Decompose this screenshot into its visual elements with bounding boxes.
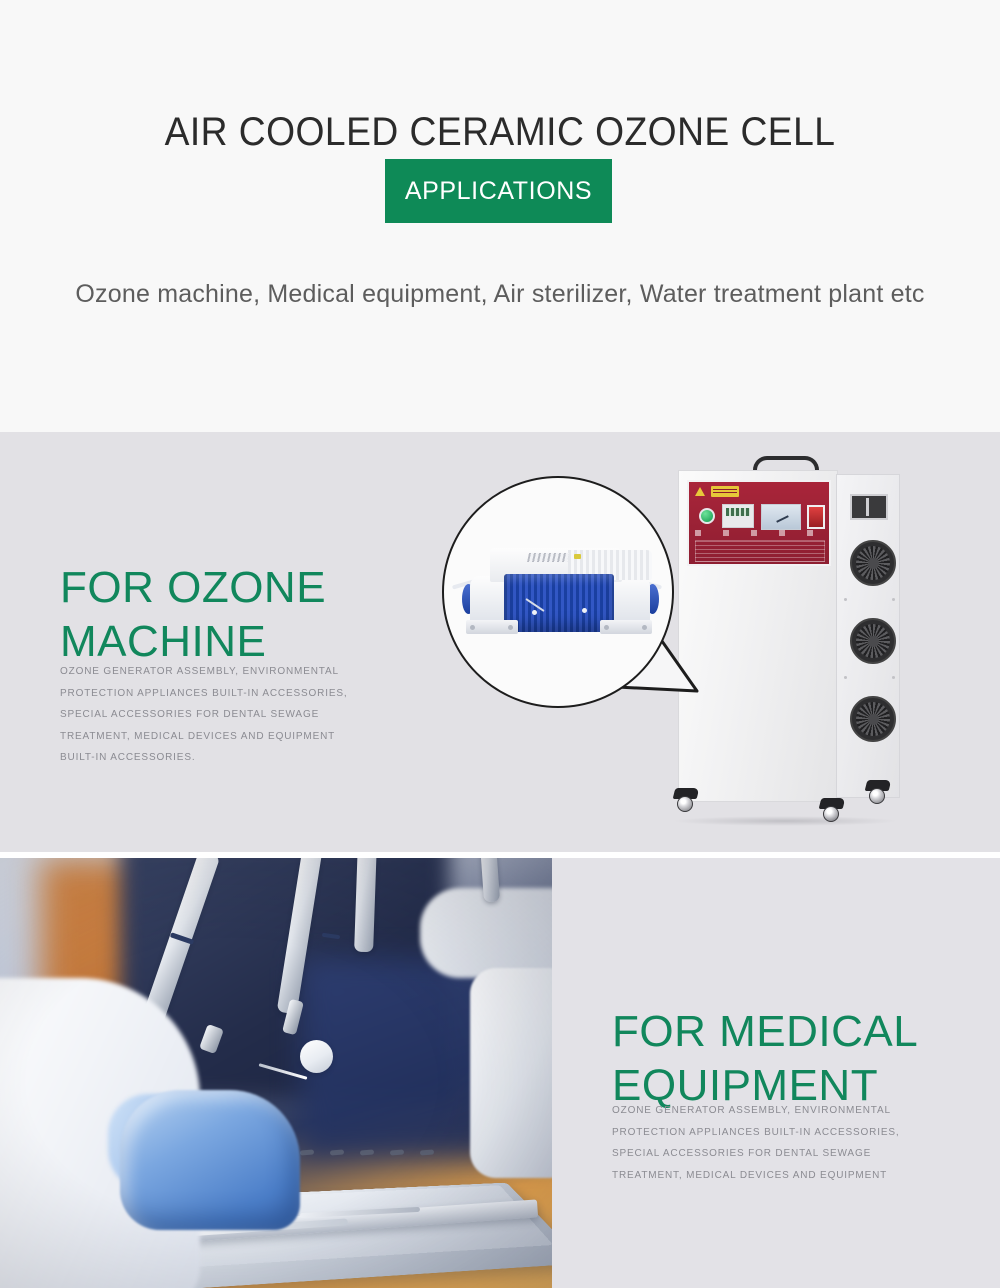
cell-screw-left	[532, 610, 537, 615]
cooling-fan-grille	[850, 618, 896, 664]
cell-warning-sticker	[574, 554, 581, 559]
medical-section-body: OZONE GENERATOR ASSEMBLY, ENVIRONMENTAL …	[612, 1100, 902, 1186]
applications-subtitle: Ozone machine, Medical equipment, Air st…	[60, 273, 940, 315]
panel-screw	[892, 598, 895, 601]
control-labels-row	[695, 530, 823, 536]
medical-section-heading: FOR MEDICAL EQUIPMENT	[612, 1005, 952, 1113]
caster-wheel	[866, 780, 892, 802]
page-title: AIR COOLED CERAMIC OZONE CELL	[35, 110, 965, 155]
ozone-section-body: OZONE GENERATOR ASSEMBLY, ENVIRONMENTAL …	[60, 661, 350, 769]
machine-ground-shadow	[672, 816, 898, 826]
panel-screw	[892, 676, 895, 679]
cell-vent-slits	[527, 553, 569, 562]
cell-screw-right	[582, 608, 587, 613]
bracket-hole	[604, 625, 609, 630]
applications-badge-label: APPLICATIONS	[405, 177, 592, 206]
digital-display	[722, 504, 754, 528]
for-medical-equipment-section: FOR MEDICAL EQUIPMENT OZONE GENERATOR AS…	[0, 858, 1000, 1288]
product-detail-page: AIR COOLED CERAMIC OZONE CELL APPLICATIO…	[0, 0, 1000, 1288]
photo-vignette	[0, 858, 552, 1288]
hero-section: AIR COOLED CERAMIC OZONE CELL APPLICATIO…	[0, 0, 1000, 432]
cell-blue-heatsink	[504, 574, 614, 632]
dental-clinic-photo	[0, 858, 552, 1288]
cooling-fan-grille	[850, 696, 896, 742]
cell-end-cap-right	[608, 576, 650, 624]
bracket-hole	[642, 625, 647, 630]
ozone-section-heading: FOR OZONE MACHINE	[60, 561, 390, 669]
ozone-cell-callout	[442, 476, 674, 708]
machine-control-panel	[687, 480, 831, 566]
cooling-fan-grille	[850, 540, 896, 586]
panel-screw	[844, 598, 847, 601]
warning-triangle-icon	[695, 487, 705, 496]
instruction-text-block	[695, 540, 825, 562]
yellow-caution-label	[711, 486, 739, 497]
power-indicator-light	[699, 508, 715, 524]
machine-power-socket	[850, 494, 888, 520]
pressure-gauge	[761, 504, 801, 530]
caster-wheel	[674, 788, 700, 810]
panel-screw	[844, 676, 847, 679]
applications-badge: APPLICATIONS	[385, 159, 612, 223]
bracket-hole	[508, 625, 513, 630]
power-rocker-switch[interactable]	[807, 505, 825, 529]
bracket-hole	[470, 625, 475, 630]
ceramic-ozone-cell-graphic	[458, 548, 658, 643]
